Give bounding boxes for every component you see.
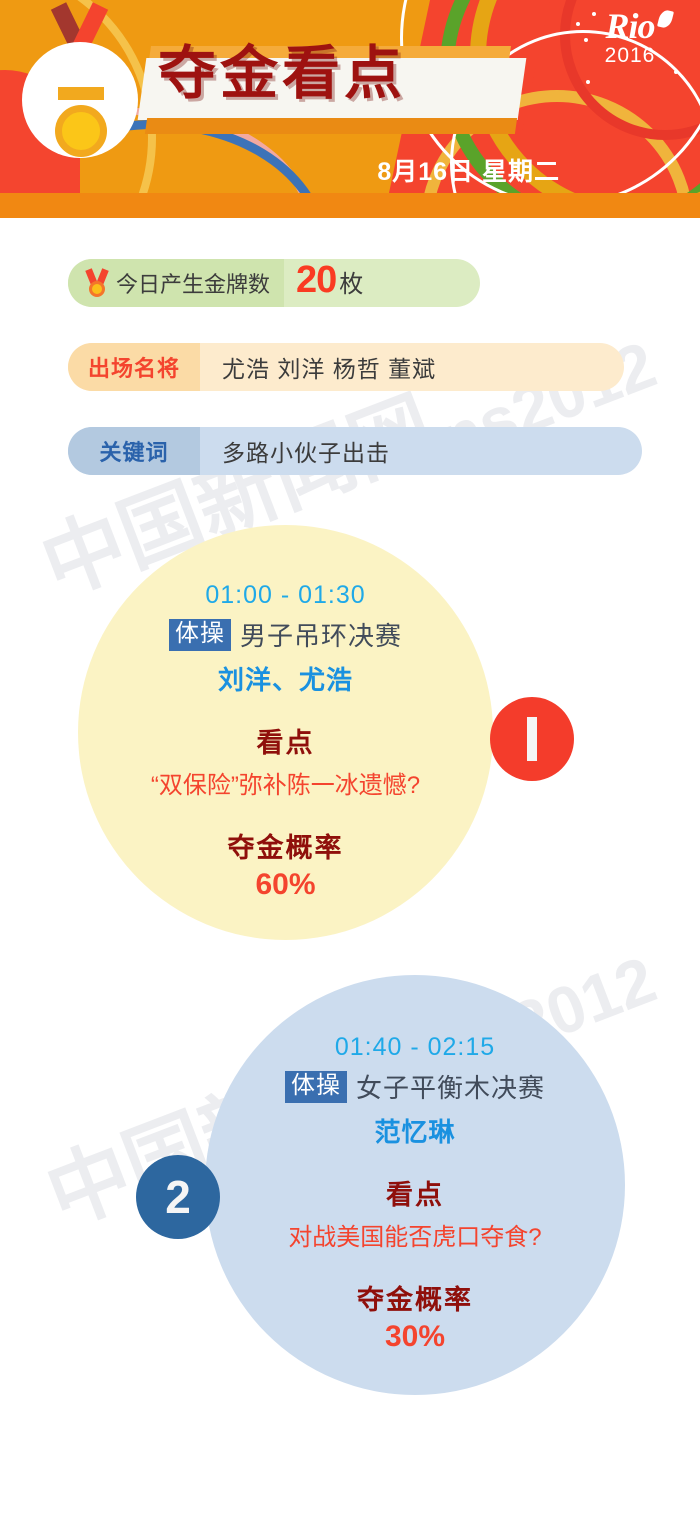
header-bottom-bar <box>0 193 700 218</box>
medal-coin <box>55 105 107 157</box>
page-title: 夺金看点 <box>158 32 498 116</box>
star-athletes-value: 尤浩 刘洋 杨哲 董斌 <box>200 350 436 384</box>
keyword-label: 关键词 <box>68 427 200 475</box>
title-ribbon-shadow <box>145 118 517 134</box>
event-2-title-row: 体操 女子平衡木决赛 <box>205 1068 625 1105</box>
sparkle-icon <box>674 70 678 74</box>
event-1-probability-label: 夺金概率 <box>78 826 493 865</box>
sparkle-icon <box>586 80 590 84</box>
event-2-highlight-label: 看点 <box>205 1173 625 1212</box>
info-bar-gold-count: 今日产生金牌数 20 枚 <box>68 259 480 307</box>
header-date: 8月16日 星期二 <box>320 152 560 188</box>
info-bar-keyword: 关键词 多路小伙子出击 <box>68 427 642 475</box>
event-2-sport-tag: 体操 <box>285 1071 347 1103</box>
star-athletes-label: 出场名将 <box>68 343 200 391</box>
event-2-probability-label: 夺金概率 <box>205 1278 625 1317</box>
sparkle-icon <box>584 38 588 42</box>
rio-2016-logo: Rio 2016 <box>570 8 690 98</box>
event-1-time: 01:00 - 01:30 <box>78 581 493 610</box>
event-2-probability-value: 30% <box>205 1320 625 1354</box>
rio-logo-year: 2016 <box>570 44 690 68</box>
medal-icon <box>86 269 108 297</box>
keyword-value: 多路小伙子出击 <box>200 434 390 468</box>
gold-count-unit: 枚 <box>339 264 363 299</box>
event-2-name: 女子平衡木决赛 <box>356 1068 545 1105</box>
sparkle-icon <box>592 12 596 16</box>
event-2-athletes: 范忆琳 <box>205 1112 625 1149</box>
gold-count-value: 20 <box>296 259 336 302</box>
event-2-number-badge: 2 <box>136 1155 220 1239</box>
info-bar-star-athletes: 出场名将 尤浩 刘洋 杨哲 董斌 <box>68 343 624 391</box>
event-2-content: 01:40 - 02:15 体操 女子平衡木决赛 范忆琳 看点 对战美国能否虎口… <box>205 1033 625 1354</box>
event-1-number-badge <box>490 697 574 781</box>
gold-count-label-segment: 今日产生金牌数 <box>68 259 284 307</box>
event-1-content: 01:00 - 01:30 体操 男子吊环决赛 刘洋、尤浩 看点 “双保险”弥补… <box>78 581 493 902</box>
gold-count-label: 今日产生金牌数 <box>116 267 270 299</box>
event-1-sport-tag: 体操 <box>169 619 231 651</box>
gold-count-value-segment: 20 枚 <box>284 259 363 307</box>
event-1-highlight-label: 看点 <box>78 721 493 760</box>
event-1-athletes: 刘洋、尤浩 <box>78 660 493 697</box>
event-circle-2: 01:40 - 02:15 体操 女子平衡木决赛 范忆琳 看点 对战美国能否虎口… <box>205 975 625 1395</box>
infographic-page: Rio 2016 夺金看点 8月16日 星期二 中国新闻网 cns2012 中国… <box>0 0 700 1520</box>
event-2-time: 01:40 - 02:15 <box>205 1033 625 1062</box>
sparkle-icon <box>576 22 580 26</box>
event-1-number-glyph <box>527 717 537 761</box>
header-banner: Rio 2016 夺金看点 8月16日 星期二 <box>0 0 700 218</box>
gold-medal-icon <box>22 22 158 158</box>
event-1-title-row: 体操 男子吊环决赛 <box>78 616 493 653</box>
event-1-probability-value: 60% <box>78 868 493 902</box>
medal-clasp <box>58 87 104 100</box>
event-1-highlight-text: “双保险”弥补陈一冰遗憾? <box>78 765 493 800</box>
event-circle-1: 01:00 - 01:30 体操 男子吊环决赛 刘洋、尤浩 看点 “双保险”弥补… <box>78 525 493 940</box>
event-1-name: 男子吊环决赛 <box>240 616 402 653</box>
event-2-highlight-text: 对战美国能否虎口夺食? <box>205 1217 625 1252</box>
